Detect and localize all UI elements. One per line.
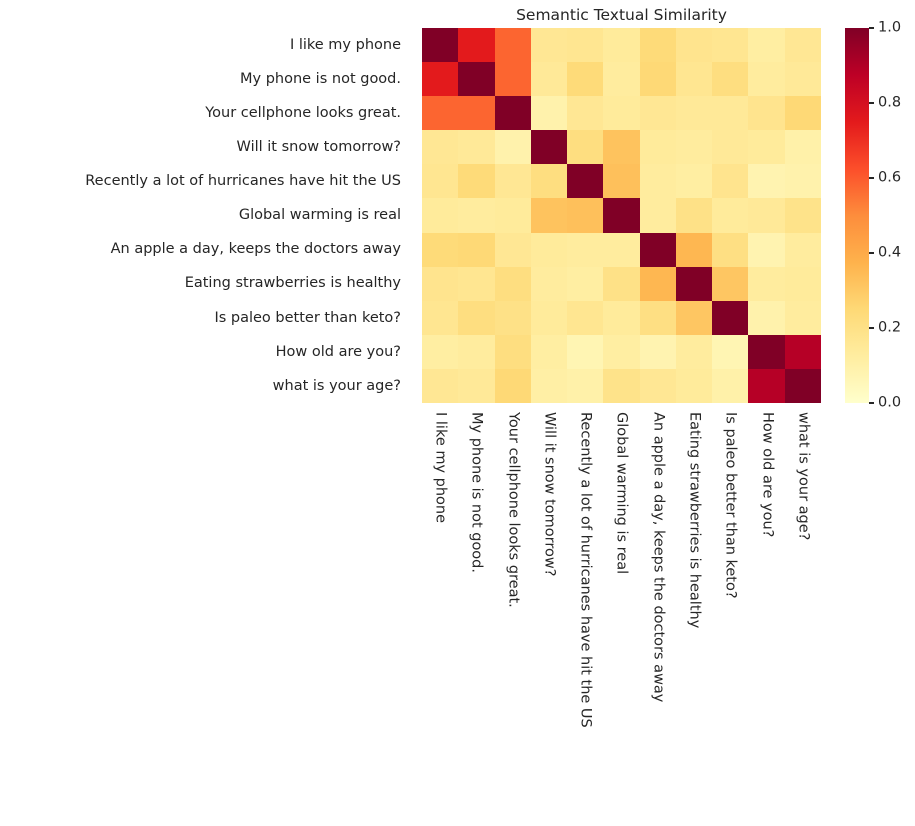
x-tick-label: An apple a day, keeps the doctors away	[650, 412, 665, 702]
heatmap-cell	[458, 28, 494, 62]
x-tick: Your cellphone looks great.	[495, 403, 531, 703]
heatmap-cell	[785, 164, 821, 198]
heatmap-cell	[603, 233, 639, 267]
x-tick-label: what is your age?	[796, 412, 811, 540]
heatmap-cell	[785, 267, 821, 301]
y-tick-label: My phone is not good.	[240, 72, 401, 87]
heatmap-cell	[495, 198, 531, 232]
heatmap-cell	[748, 301, 784, 335]
heatmap-cell	[748, 233, 784, 267]
heatmap-cell	[603, 198, 639, 232]
heatmap-cell	[640, 28, 676, 62]
heatmap-cell	[676, 301, 712, 335]
heatmap-cell	[640, 164, 676, 198]
heatmap-cell	[676, 28, 712, 62]
heatmap-cell	[531, 96, 567, 130]
y-tick: My phone is not good.	[0, 62, 410, 96]
heatmap-cell	[640, 335, 676, 369]
heatmap-cell	[495, 28, 531, 62]
y-tick: I like my phone	[0, 28, 410, 62]
heatmap-cell	[676, 335, 712, 369]
heatmap-cell	[785, 233, 821, 267]
heatmap-cell	[422, 267, 458, 301]
heatmap-cell	[458, 301, 494, 335]
heatmap-cell	[640, 301, 676, 335]
heatmap-cell	[458, 233, 494, 267]
heatmap-cell	[712, 28, 748, 62]
heatmap-cell	[567, 369, 603, 403]
colorbar-tick-label: 1.0	[878, 20, 901, 35]
heatmap-cell	[495, 369, 531, 403]
x-tick-label: Will it snow tomorrow?	[542, 412, 557, 576]
heatmap-cell	[676, 369, 712, 403]
heatmap-cell	[422, 335, 458, 369]
colorbar-tick-label: 0.2	[878, 320, 901, 335]
colorbar-tick-label: 0.8	[878, 95, 901, 110]
y-tick-label: How old are you?	[276, 345, 401, 360]
x-tick: Recently a lot of hurricanes have hit th…	[567, 403, 603, 703]
heatmap-cell	[603, 130, 639, 164]
heatmap-cell	[603, 62, 639, 96]
heatmap-cell	[676, 96, 712, 130]
heatmap-cell	[785, 28, 821, 62]
heatmap-cell	[712, 335, 748, 369]
heatmap-cell	[603, 267, 639, 301]
figure-canvas: Semantic Textual Similarity I like my ph…	[0, 0, 915, 826]
heatmap-cell	[531, 301, 567, 335]
x-tick: Will it snow tomorrow?	[531, 403, 567, 703]
y-tick: Global warming is real	[0, 198, 410, 232]
heatmap-cell	[458, 96, 494, 130]
y-tick-label: Global warming is real	[239, 208, 401, 223]
x-tick: How old are you?	[748, 403, 784, 703]
x-axis: I like my phoneMy phone is not good.Your…	[422, 403, 821, 703]
heatmap-cell	[422, 28, 458, 62]
heatmap-cell	[567, 130, 603, 164]
heatmap-cell	[640, 130, 676, 164]
heatmap-cell	[422, 62, 458, 96]
heatmap-cell	[712, 369, 748, 403]
heatmap-cell	[567, 301, 603, 335]
y-tick: Is paleo better than keto?	[0, 301, 410, 335]
y-tick-label: Is paleo better than keto?	[214, 311, 401, 326]
y-tick-label: what is your age?	[273, 379, 401, 394]
heatmap-cell	[603, 301, 639, 335]
colorbar-tick-mark	[869, 102, 874, 103]
heatmap-cell	[531, 233, 567, 267]
x-tick: I like my phone	[422, 403, 458, 703]
heatmap-cell	[531, 369, 567, 403]
heatmap-cell	[640, 233, 676, 267]
colorbar: 1.00.80.60.40.20.0	[845, 28, 915, 403]
heatmap-cell	[422, 369, 458, 403]
heatmap-cell	[748, 62, 784, 96]
heatmap-cell	[531, 267, 567, 301]
y-tick: Will it snow tomorrow?	[0, 130, 410, 164]
heatmap-cell	[712, 164, 748, 198]
heatmap-cell	[640, 96, 676, 130]
x-tick: Eating strawberries is healthy	[676, 403, 712, 703]
heatmap-cell	[640, 62, 676, 96]
y-tick-label: Your cellphone looks great.	[205, 106, 401, 121]
heatmap-cell	[422, 198, 458, 232]
heatmap-cell	[531, 130, 567, 164]
heatmap-cell	[712, 233, 748, 267]
colorbar-gradient	[845, 28, 869, 403]
heatmap-cell	[676, 164, 712, 198]
heatmap-cell	[712, 198, 748, 232]
colorbar-tick-label: 0.4	[878, 245, 901, 260]
heatmap-cell	[712, 96, 748, 130]
heatmap-cell	[785, 369, 821, 403]
heatmap-cell	[603, 164, 639, 198]
heatmap-cell	[748, 198, 784, 232]
heatmap-cell	[785, 62, 821, 96]
y-tick-label: Will it snow tomorrow?	[237, 140, 401, 155]
heatmap-cell	[458, 267, 494, 301]
heatmap-cell	[567, 198, 603, 232]
x-tick-label: How old are you?	[759, 412, 774, 537]
heatmap-cell	[676, 233, 712, 267]
heatmap-cell	[495, 267, 531, 301]
x-tick-label: Global warming is real	[614, 412, 629, 574]
heatmap-cell	[785, 301, 821, 335]
heatmap-cell	[785, 198, 821, 232]
heatmap-cell	[531, 28, 567, 62]
x-tick-label: My phone is not good.	[469, 412, 484, 573]
heatmap-cell	[785, 130, 821, 164]
heatmap-cell	[567, 96, 603, 130]
y-tick: what is your age?	[0, 369, 410, 403]
heatmap-cell	[748, 164, 784, 198]
heatmap-cell	[458, 62, 494, 96]
heatmap-cell	[531, 62, 567, 96]
heatmap-cell	[640, 369, 676, 403]
heatmap-cell	[495, 301, 531, 335]
y-tick: Recently a lot of hurricanes have hit th…	[0, 164, 410, 198]
x-tick: An apple a day, keeps the doctors away	[640, 403, 676, 703]
y-tick-label: I like my phone	[290, 38, 401, 53]
heatmap-cell	[422, 301, 458, 335]
colorbar-tick-label: 0.0	[878, 395, 901, 410]
heatmap-cell	[531, 198, 567, 232]
heatmap-cell	[567, 267, 603, 301]
heatmap-cell	[422, 233, 458, 267]
heatmap-cell	[567, 233, 603, 267]
x-tick: what is your age?	[785, 403, 821, 703]
heatmap-cell	[676, 198, 712, 232]
heatmap-cell	[458, 369, 494, 403]
heatmap-cell	[495, 130, 531, 164]
heatmap-grid	[422, 28, 821, 403]
heatmap-cell	[422, 164, 458, 198]
heatmap-cell	[458, 130, 494, 164]
heatmap-cell	[748, 96, 784, 130]
heatmap-cell	[422, 130, 458, 164]
heatmap-cell	[712, 130, 748, 164]
heatmap-cell	[712, 62, 748, 96]
heatmap-cell	[748, 28, 784, 62]
y-tick-label: Recently a lot of hurricanes have hit th…	[85, 174, 401, 189]
heatmap-cell	[422, 96, 458, 130]
heatmap-cell	[676, 130, 712, 164]
colorbar-tick-mark	[869, 177, 874, 178]
heatmap-cell	[603, 96, 639, 130]
page-title: Semantic Textual Similarity	[422, 6, 821, 24]
y-tick: An apple a day, keeps the doctors away	[0, 233, 410, 267]
heatmap-cell	[676, 267, 712, 301]
heatmap-cell	[567, 335, 603, 369]
heatmap-cell	[712, 301, 748, 335]
x-tick-label: Recently a lot of hurricanes have hit th…	[578, 412, 593, 728]
heatmap-cell	[495, 164, 531, 198]
heatmap-cell	[748, 130, 784, 164]
heatmap-cell	[748, 267, 784, 301]
x-tick: Global warming is real	[603, 403, 639, 703]
heatmap-cell	[748, 335, 784, 369]
heatmap-cell	[785, 96, 821, 130]
y-tick-label: Eating strawberries is healthy	[185, 276, 401, 291]
heatmap-cell	[531, 164, 567, 198]
heatmap-cell	[676, 62, 712, 96]
x-tick: My phone is not good.	[458, 403, 494, 703]
heatmap-cell	[495, 96, 531, 130]
heatmap-cell	[567, 164, 603, 198]
heatmap-cell	[712, 267, 748, 301]
y-tick-label: An apple a day, keeps the doctors away	[111, 242, 401, 257]
heatmap-cell	[567, 62, 603, 96]
y-tick: Eating strawberries is healthy	[0, 267, 410, 301]
x-tick-label: Is paleo better than keto?	[723, 412, 738, 599]
heatmap-plot-area	[422, 28, 821, 403]
heatmap-cell	[785, 335, 821, 369]
heatmap-cell	[603, 335, 639, 369]
colorbar-tick-mark	[869, 252, 874, 253]
colorbar-tick-label: 0.6	[878, 170, 901, 185]
heatmap-cell	[495, 233, 531, 267]
colorbar-tick-mark	[869, 402, 874, 403]
x-tick-label: Your cellphone looks great.	[505, 412, 520, 608]
y-tick: Your cellphone looks great.	[0, 96, 410, 130]
heatmap-cell	[531, 335, 567, 369]
x-tick-label: I like my phone	[433, 412, 448, 523]
heatmap-cell	[458, 198, 494, 232]
y-tick: How old are you?	[0, 335, 410, 369]
y-axis: I like my phoneMy phone is not good.Your…	[0, 28, 410, 403]
heatmap-cell	[603, 28, 639, 62]
heatmap-cell	[458, 164, 494, 198]
heatmap-cell	[567, 28, 603, 62]
heatmap-cell	[603, 369, 639, 403]
colorbar-tick-mark	[869, 27, 874, 28]
colorbar-tick-mark	[869, 327, 874, 328]
heatmap-cell	[640, 267, 676, 301]
heatmap-cell	[495, 335, 531, 369]
x-tick-label: Eating strawberries is healthy	[687, 412, 702, 628]
x-tick: Is paleo better than keto?	[712, 403, 748, 703]
heatmap-cell	[495, 62, 531, 96]
heatmap-cell	[640, 198, 676, 232]
heatmap-cell	[458, 335, 494, 369]
heatmap-cell	[748, 369, 784, 403]
